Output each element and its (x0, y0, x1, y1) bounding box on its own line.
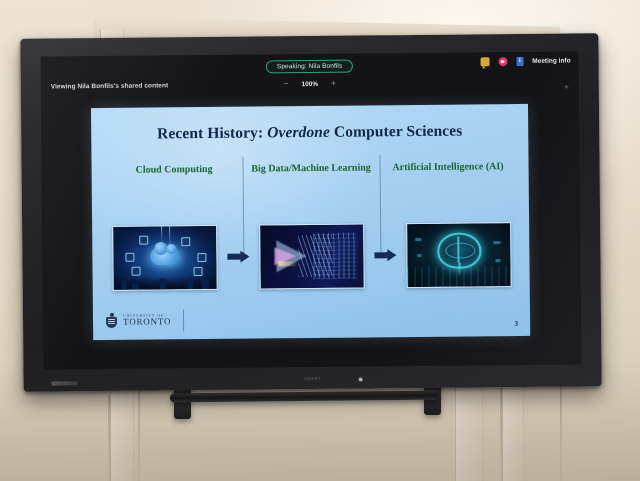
figure-cell-2 (253, 223, 371, 289)
column-2: Big Data/Machine Learning (243, 161, 380, 208)
zoom-controls[interactable]: − 100% + (284, 80, 336, 88)
column-1: Cloud Computing (106, 163, 243, 210)
ai-brain-image (406, 222, 512, 288)
zoom-in-button[interactable]: + (331, 80, 336, 88)
slide-column-headings: Cloud Computing Big Data/Machine Learnin… (106, 160, 517, 210)
slide-title-prefix: Recent History: (157, 124, 267, 142)
mouse-pointer-icon (529, 140, 530, 151)
uoft-crest-icon (105, 312, 118, 329)
uoft-wordmark: UNIVERSITY OF TORONTO (123, 314, 171, 327)
arrow-shaft (227, 254, 240, 260)
shared-slide: Recent History: Overdone Computer Scienc… (91, 104, 530, 340)
expand-view-button[interactable]: + (564, 83, 569, 92)
slide-title-italic: Overdone (267, 124, 330, 142)
node-icon-6 (194, 267, 203, 276)
viewing-shared-content-label: Viewing Nila Bonfils's shared content (51, 82, 168, 90)
node-icon-1 (139, 235, 148, 244)
arrow-head (240, 250, 249, 262)
node-icon-4 (197, 253, 206, 262)
building-2 (132, 283, 139, 289)
light-ray-1 (161, 226, 162, 244)
chip-4 (495, 259, 500, 262)
column-3: Artificial Intelligence (AI) (380, 160, 517, 207)
column-3-heading: Artificial Intelligence (AI) (384, 160, 513, 174)
arrow-cell-2 (370, 249, 400, 262)
info-icon[interactable] (516, 57, 523, 66)
slide-figure-row (106, 216, 518, 296)
chip-3 (493, 241, 500, 244)
zoom-out-button[interactable]: − (284, 80, 289, 88)
arrow-cell-1 (223, 250, 253, 263)
arrow-head (387, 249, 396, 261)
chat-icon[interactable] (480, 57, 489, 66)
cloud-computing-image (112, 224, 218, 290)
uoft-big-text: TORONTO (123, 318, 171, 327)
chip-1 (415, 237, 421, 240)
node-icon-5 (132, 266, 141, 275)
building-5 (202, 278, 209, 288)
arrow-right-icon-1 (227, 250, 249, 263)
slide-page-number: 3 (514, 319, 518, 328)
big-data-image (259, 223, 365, 289)
crest-top (109, 312, 113, 316)
column-1-heading: Cloud Computing (110, 163, 239, 177)
figure-cell-3 (400, 222, 518, 288)
slide-title: Recent History: Overdone Computer Scienc… (91, 122, 528, 144)
building-4 (188, 281, 193, 289)
light-beam-amber (278, 261, 298, 266)
building-3 (160, 278, 166, 289)
meeting-info-button[interactable]: Meeting info (532, 58, 570, 65)
screen-content-area: Speaking: Nila Bonfils Viewing Nila Bonf… (40, 51, 581, 369)
monitor-brand-label: SMART (304, 376, 321, 381)
topbar-right-controls: Meeting info (480, 57, 570, 67)
logo-divider (183, 309, 184, 331)
arrow-right-icon-2 (374, 249, 396, 262)
node-icon-2 (181, 237, 190, 246)
speaking-badge: Speaking: Nila Bonfils (266, 60, 354, 74)
crest-shield (106, 316, 117, 327)
column-2-heading: Big Data/Machine Learning (247, 161, 376, 175)
room-photo-scene: SMART Speaking: Nila Bonfils Viewing Nil… (0, 0, 640, 481)
meeting-topbar: Speaking: Nila Bonfils Viewing Nila Bonf… (40, 51, 578, 104)
zoom-level-value: 100% (301, 80, 318, 87)
arrow-shaft (374, 252, 387, 258)
chip-2 (417, 253, 421, 256)
light-ray-2 (169, 226, 170, 248)
cloud-icon (150, 247, 180, 264)
university-logo: UNIVERSITY OF TORONTO (105, 309, 184, 332)
brain-stem (458, 262, 460, 276)
node-icon-3 (125, 252, 134, 261)
slide-title-suffix: Computer Sciences (330, 123, 463, 141)
figure-cell-1 (106, 224, 224, 290)
record-icon[interactable] (498, 57, 507, 66)
wall-mounted-display: SMART Speaking: Nila Bonfils Viewing Nil… (20, 33, 601, 392)
monitor-ports (52, 381, 78, 385)
building-1 (122, 280, 127, 289)
